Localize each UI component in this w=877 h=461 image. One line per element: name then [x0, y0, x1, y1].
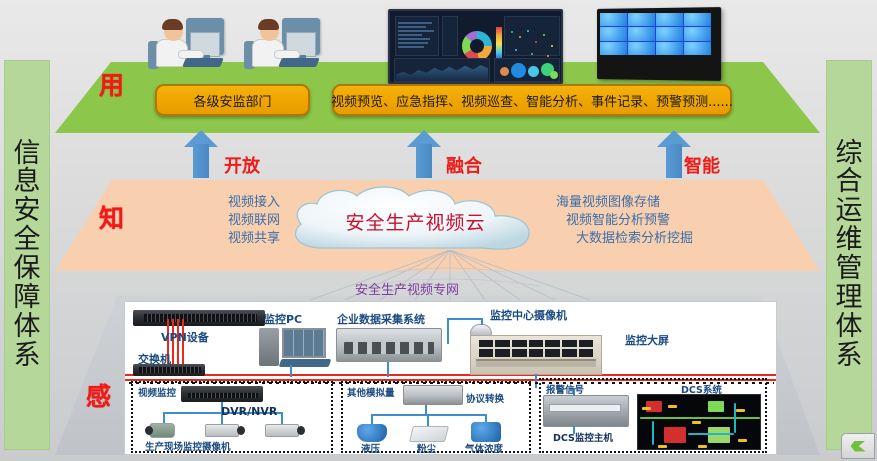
cloud-left-item-2: 视频共享	[160, 230, 280, 248]
pillar-operations-management: 综 合 运 维 管 理 体 系	[826, 60, 872, 450]
heat-scale-icon	[496, 27, 502, 61]
arrow-label-intelligent: 智能	[684, 152, 720, 178]
label-center-camera: 监控中心摄像机	[490, 307, 567, 323]
pillar-left-char-1: 息	[14, 168, 41, 197]
cloud-right-item-0: 海量视频图像存储	[556, 194, 741, 212]
collector-link	[387, 362, 389, 377]
label-dcs-host: DCS监控主机	[553, 430, 613, 444]
cloud-title: 安全生产视频云	[283, 208, 548, 235]
leaf-glyph-icon	[851, 441, 866, 452]
pillar-right-char-6: 体	[836, 313, 863, 342]
label-switch: 交换机	[138, 351, 171, 367]
label-protocol-convert: 协议转换	[466, 391, 504, 405]
video-cloud-shape: 安全生产视频云	[283, 186, 548, 258]
scatter-chart-icon	[506, 25, 560, 61]
button-safety-departments[interactable]: 各级安监部门	[155, 84, 310, 116]
label-alarm-signal: 报警信号	[546, 382, 584, 396]
label-dust: 粉尘	[417, 441, 436, 455]
arrow-label-open: 开放	[224, 152, 260, 178]
layer-label-use: 用	[99, 66, 124, 102]
analytics-dashboard-image	[388, 9, 563, 84]
label-dcs-system: DCS系统	[681, 382, 722, 396]
layer-label-know: 知	[99, 199, 124, 235]
video-wall-image	[595, 8, 720, 80]
pillar-information-security: 信 息 安 全 保 障 体 系	[4, 60, 50, 450]
architecture-diagram: 信 息 安 全 保 障 体 系 综 合 运 维 管 理 体 系 用 知 感	[0, 0, 877, 461]
button-application-functions[interactable]: 视频预览、应急指挥、视频巡查、智能分析、事件记录、预警预测......	[332, 84, 732, 116]
layer-label-sense: 感	[86, 377, 111, 413]
pillar-left-char-3: 全	[14, 226, 41, 255]
pillar-right-char-5: 理	[836, 284, 863, 313]
control-room-wall-image	[470, 335, 602, 375]
label-gas-concentration: 气体浓度	[465, 441, 503, 455]
bubble-chart-icon	[500, 67, 509, 76]
pillar-right-char-2: 运	[836, 197, 863, 226]
pc-keyboard-icon	[279, 359, 332, 367]
wall-link	[535, 374, 537, 388]
pillar-left-char-0: 信	[14, 140, 41, 169]
pillar-right-char-7: 系	[836, 342, 863, 371]
label-hydraulic: 液压	[361, 441, 380, 455]
pc-tower-icon	[259, 328, 279, 366]
label-monitor-pc: 监控PC	[264, 311, 302, 327]
arrow-label-fusion: 融合	[446, 152, 482, 178]
pillar-right-char-0: 综	[836, 140, 863, 169]
operator-person-1	[148, 8, 224, 80]
monitor-pc-link	[290, 365, 292, 377]
video-wall-screens	[600, 13, 711, 55]
pillar-right-char-4: 管	[836, 255, 863, 284]
cloud-left-item-1: 视频联网	[160, 212, 280, 230]
network-bus-primary	[125, 374, 777, 376]
cloud-capabilities-right: 海量视频图像存储 视频智能分析预警 大数据检索分析挖掘	[556, 194, 741, 248]
pillar-right-char-1: 合	[836, 168, 863, 197]
label-vpn-device: VPN设备	[161, 329, 209, 345]
vpn-device-icon	[133, 310, 265, 326]
label-site-cameras: 生产现场监控摄像机	[145, 439, 231, 453]
cloud-capabilities-left: 视频接入 视频联网 视频共享	[160, 194, 280, 248]
pillar-right-char-3: 维	[836, 226, 863, 255]
donut-chart-icon	[462, 31, 492, 61]
label-video-monitoring: 视频监控	[138, 385, 176, 399]
label-other-analog: 其他模拟量	[347, 385, 395, 399]
operator-person-2	[244, 8, 320, 80]
cloud-left-item-0: 视频接入	[160, 194, 280, 212]
label-data-collector: 企业数据采集系统	[337, 311, 425, 327]
pillar-left-char-5: 障	[14, 284, 41, 313]
keyboard-icon	[182, 58, 224, 67]
corner-badge-icon	[841, 433, 875, 459]
cloud-right-item-1: 视频智能分析预警	[556, 212, 741, 230]
arrow-up-open	[184, 130, 218, 178]
keyboard-icon	[278, 58, 320, 67]
label-big-screen: 监控大屏	[625, 332, 669, 348]
cloud-right-item-2: 大数据检索分析挖掘	[556, 230, 741, 248]
private-network-label: 安全生产视频专网	[355, 279, 459, 298]
pillar-left-char-7: 系	[14, 342, 41, 371]
sensing-layer-panel: VPN设备 交换机 监控PC 企业数据采集系统 监控中心摄像机	[124, 301, 777, 455]
pillar-left-char-6: 体	[14, 313, 41, 342]
label-dvr-nvr: DVR/NVR	[221, 405, 277, 418]
arrow-up-fusion	[407, 130, 441, 178]
pillar-left-char-2: 安	[14, 197, 41, 226]
pillar-left-char-4: 保	[14, 255, 41, 284]
